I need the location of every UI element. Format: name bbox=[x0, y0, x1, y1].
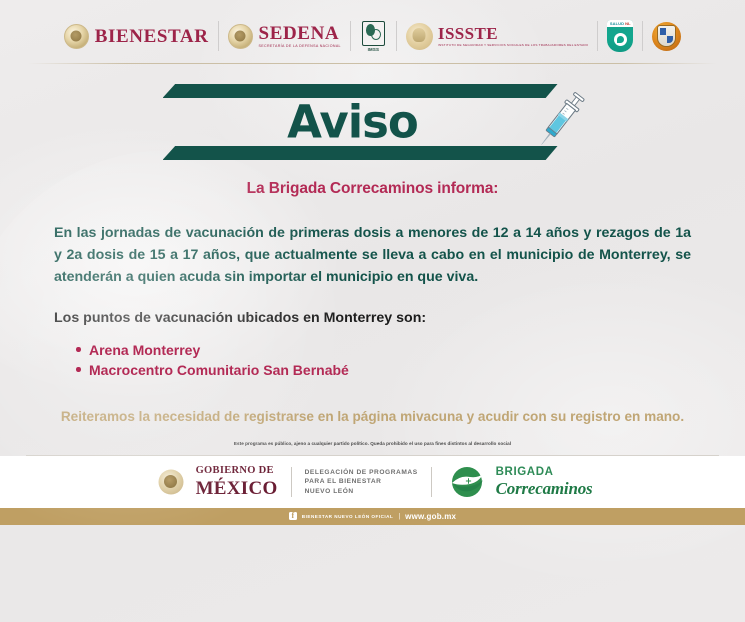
subheading: Los puntos de vacunación ubicados en Mon… bbox=[54, 310, 691, 326]
institution-logo-bar: BIENESTAR SEDENA SECRETARÍA DE LA DEFENS… bbox=[0, 0, 745, 66]
brigada-line2: Correcaminos bbox=[496, 480, 593, 497]
main-paragraph: En las jornadas de vacunación de primera… bbox=[54, 222, 691, 288]
nl-shield-glyph-icon bbox=[614, 33, 627, 46]
uanl-seal-icon bbox=[652, 22, 681, 51]
nl-tag-salud: SALUD bbox=[610, 21, 624, 26]
headline: La Brigada Correcaminos informa: bbox=[54, 180, 691, 198]
footer-logo-bar: GOBIERNO DE MÉXICO DELEGACIÓN DE PROGRAM… bbox=[0, 456, 745, 508]
imss-emblem-icon bbox=[362, 21, 385, 46]
logo-salud-nuevo-leon: SALUD NL bbox=[598, 14, 642, 58]
sedena-wordmark: SEDENA bbox=[259, 24, 341, 43]
social-separator: | bbox=[398, 513, 400, 520]
bullet-dot-icon bbox=[76, 367, 81, 372]
list-item-label: Arena Monterrey bbox=[89, 342, 200, 358]
aviso-banner: Aviso bbox=[163, 80, 583, 164]
social-footer-bar: BIENESTAR NUEVO LEÓN OFICIAL | www.gob.m… bbox=[0, 508, 745, 525]
delegacion-line2: PARA EL BIENESTAR bbox=[305, 477, 418, 487]
gobierno-line1: GOBIERNO DE bbox=[196, 466, 278, 477]
registration-reminder: Reiteramos la necesidad de registrarse e… bbox=[54, 407, 691, 427]
imss-wordmark: IMSS bbox=[368, 47, 380, 52]
mexican-eagle-seal-icon bbox=[64, 24, 89, 49]
mexican-eagle-seal-icon bbox=[153, 469, 189, 495]
bullet-dot-icon bbox=[76, 347, 81, 352]
gobierno-line2: MÉXICO bbox=[196, 479, 278, 498]
salud-nuevo-leon-shield-icon: SALUD NL bbox=[607, 20, 633, 52]
delegacion-text-block: DELEGACIÓN DE PROGRAMAS PARA EL BIENESTA… bbox=[292, 468, 431, 497]
delegacion-line3: NUEVO LEÓN bbox=[305, 487, 418, 497]
logo-issste: ISSSTE INSTITUTO DE SEGURIDAD Y SERVICIO… bbox=[397, 14, 597, 58]
announcement-poster: BIENESTAR SEDENA SECRETARÍA DE LA DEFENS… bbox=[0, 0, 745, 622]
announcement-content: La Brigada Correcaminos informa: En las … bbox=[0, 180, 745, 446]
syringe-icon bbox=[527, 82, 589, 162]
website-url[interactable]: www.gob.mx bbox=[405, 512, 456, 521]
issste-wordmark: ISSSTE bbox=[438, 25, 588, 42]
list-item: Arena Monterrey bbox=[76, 340, 691, 360]
list-item: Macrocentro Comunitario San Bernabé bbox=[76, 360, 691, 380]
social-handle: BIENESTAR NUEVO LEÓN OFICIAL bbox=[302, 514, 394, 519]
logo-uanl bbox=[643, 14, 690, 58]
issste-subtitle: INSTITUTO DE SEGURIDAD Y SERVICIOS SOCIA… bbox=[438, 44, 588, 47]
logo-imss: IMSS bbox=[351, 14, 396, 58]
roadrunner-bird-icon bbox=[446, 464, 488, 500]
gobierno-de-mexico-logo: GOBIERNO DE MÉXICO bbox=[153, 466, 291, 498]
sedena-subtitle: SECRETARÍA DE LA DEFENSA NACIONAL bbox=[259, 45, 341, 49]
list-item-label: Macrocentro Comunitario San Bernabé bbox=[89, 362, 349, 378]
issste-seal-icon bbox=[406, 23, 433, 50]
header-rule-divider bbox=[28, 63, 717, 64]
facebook-icon[interactable] bbox=[289, 512, 297, 520]
logo-sedena: SEDENA SECRETARÍA DE LA DEFENSA NACIONAL bbox=[219, 14, 350, 58]
aviso-title: Aviso bbox=[163, 100, 543, 145]
nl-tag-nl: NL bbox=[625, 21, 631, 26]
brigada-line1: BRIGADA bbox=[496, 467, 593, 479]
logo-bienestar: BIENESTAR bbox=[55, 14, 218, 58]
bienestar-wordmark: BIENESTAR bbox=[95, 27, 209, 46]
vaccination-points-list: Arena Monterrey Macrocentro Comunitario … bbox=[54, 340, 691, 381]
brigada-correcaminos-logo: BRIGADA Correcaminos bbox=[432, 464, 593, 500]
mexican-eagle-seal-icon bbox=[228, 24, 253, 49]
delegacion-line1: DELEGACIÓN DE PROGRAMAS bbox=[305, 468, 418, 478]
legal-disclaimer: Este programa es público, ajeno a cualqu… bbox=[54, 441, 691, 446]
